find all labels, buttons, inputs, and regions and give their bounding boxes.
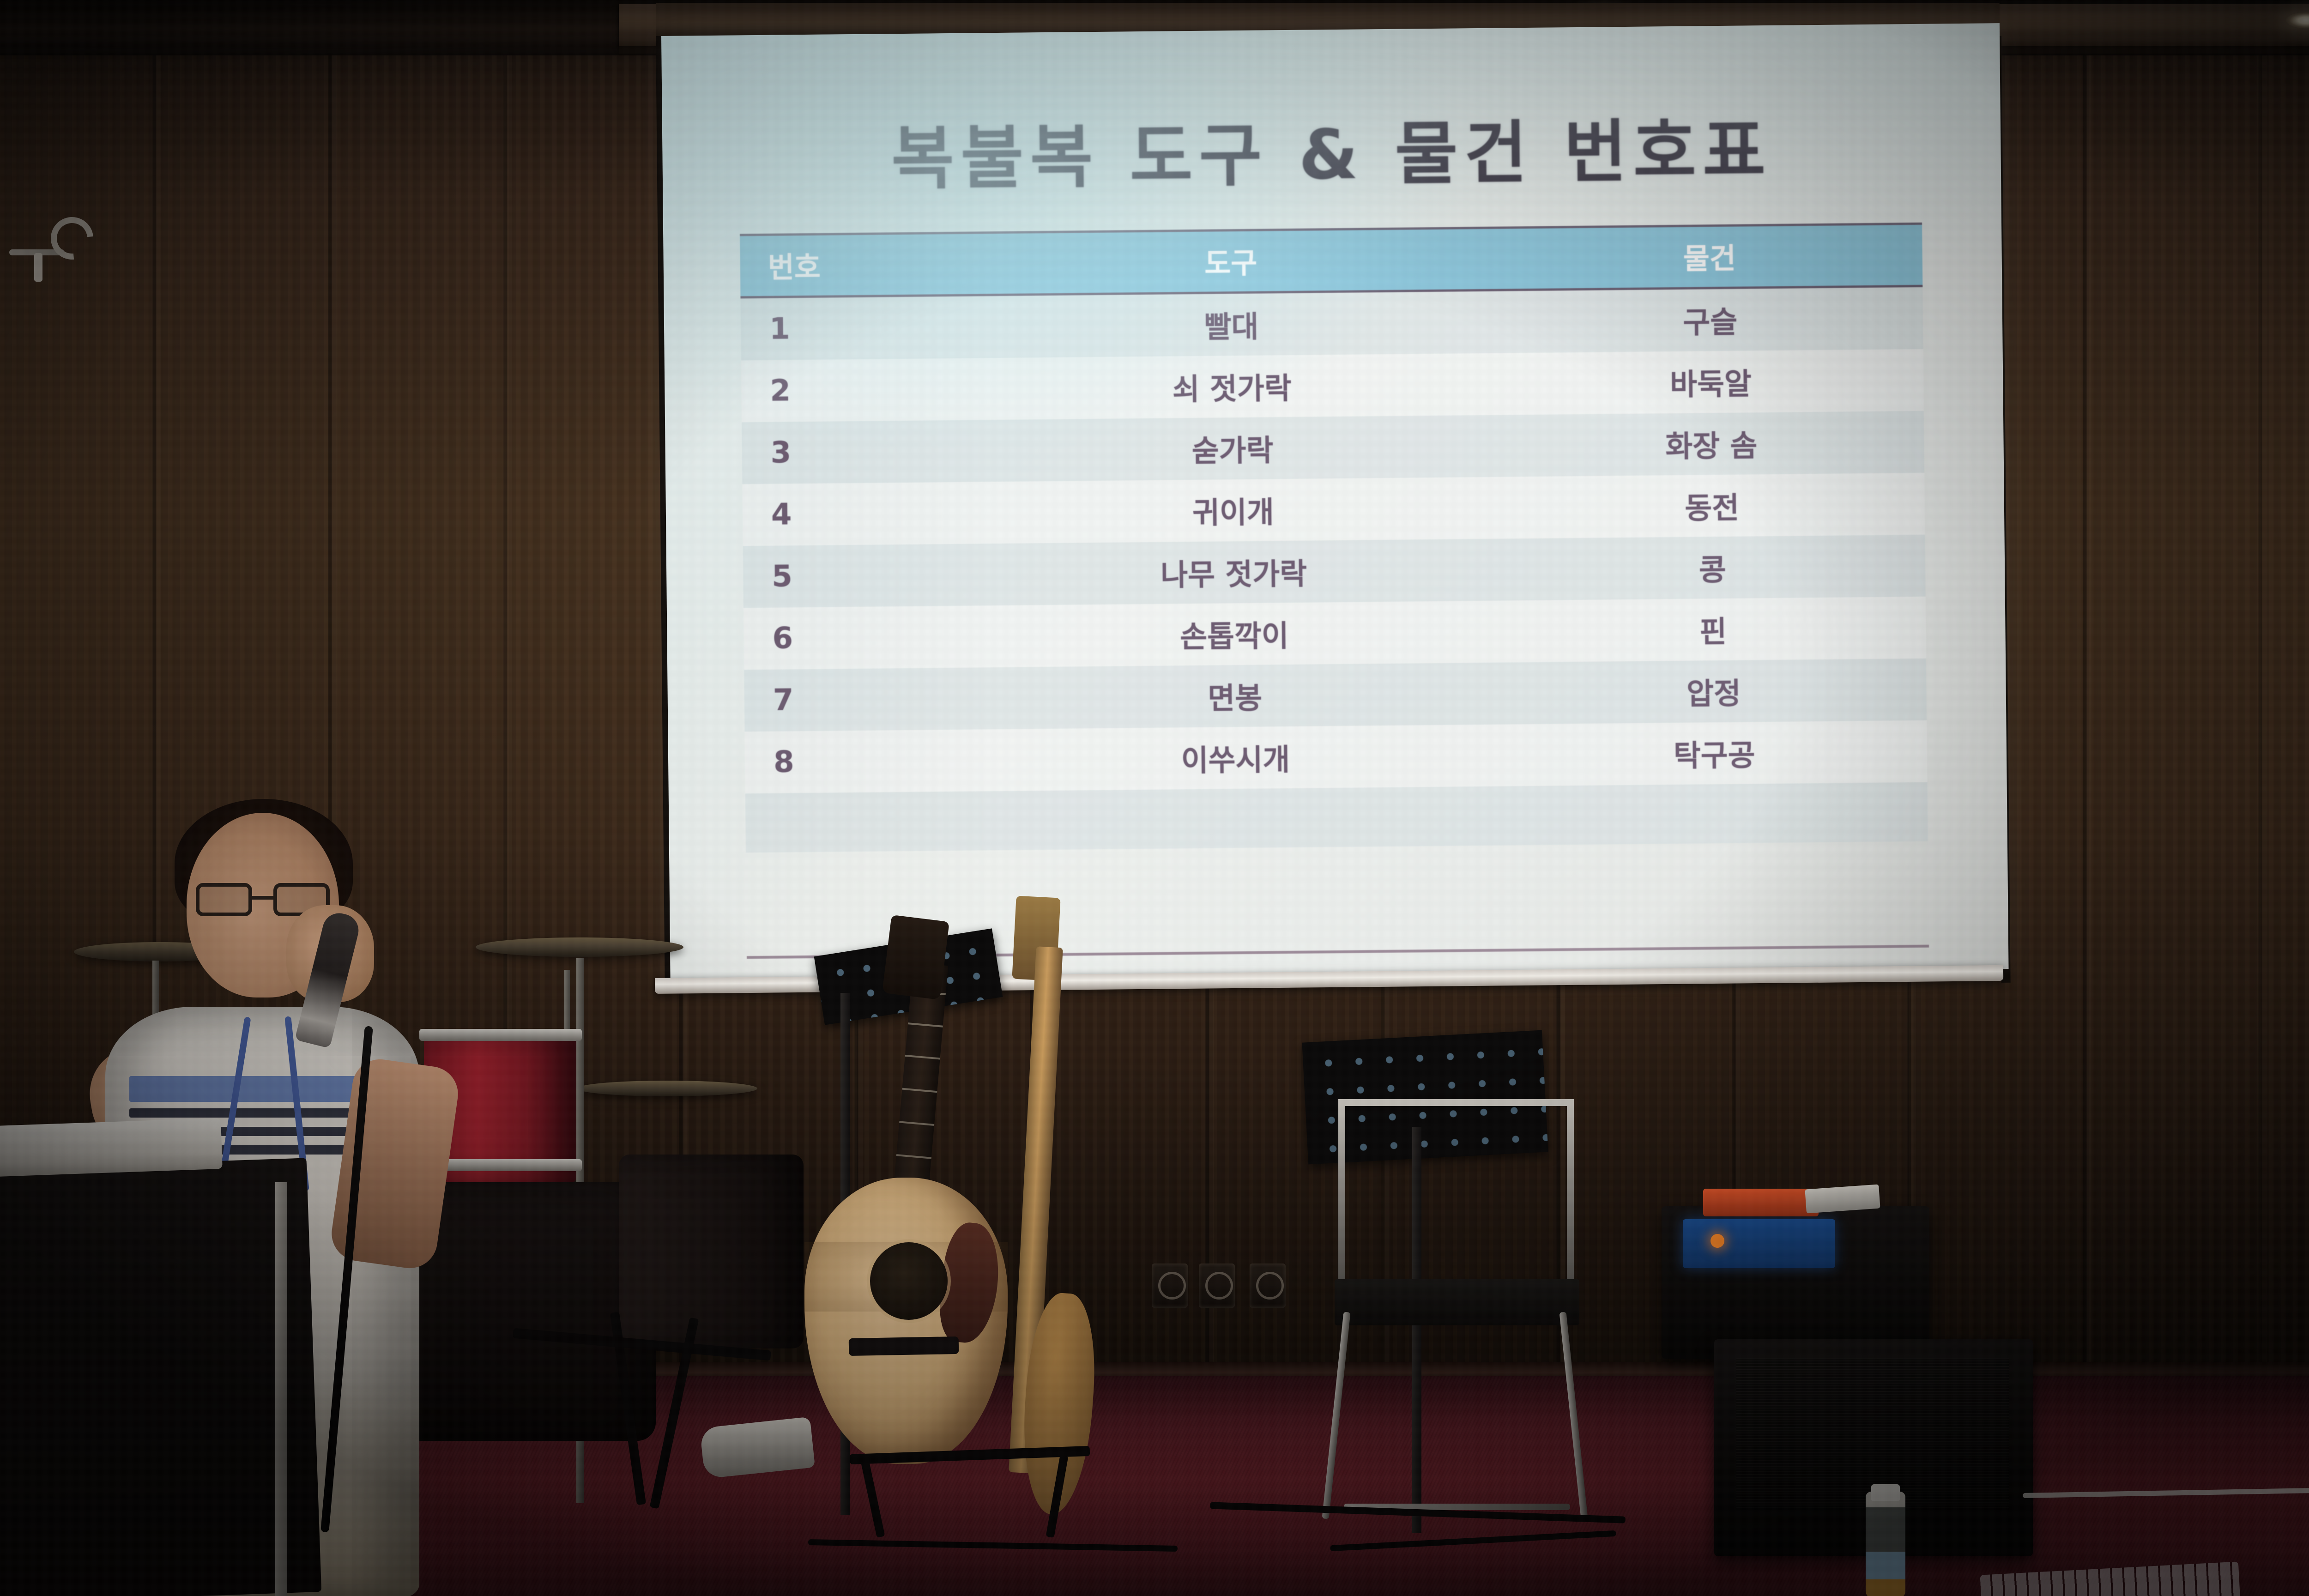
- cell-empty: [745, 792, 971, 853]
- table-row: 5 나무 젓가락 콩: [743, 535, 1926, 608]
- cell-number: 3: [742, 420, 967, 484]
- table-row: 1 빨대 구슬: [740, 286, 1923, 360]
- table-row: 7 면봉 압정: [744, 659, 1927, 732]
- table-row: 8 이쑤시개 탁구공: [744, 720, 1927, 794]
- cell-item: 탁구공: [1501, 720, 1928, 786]
- power-led-indicator: [1711, 1234, 1724, 1248]
- photo-scene: 복불복 도구 & 물건 번호표 번호 도구 물건 1 빨대 구슬: [0, 0, 2309, 1596]
- cell-item: 콩: [1499, 535, 1926, 601]
- cell-number: 8: [744, 730, 970, 794]
- guitar-fret: [905, 1055, 940, 1060]
- cell-item: 핀: [1500, 597, 1926, 663]
- cell-number: 6: [743, 606, 969, 670]
- slide-table: 번호 도구 물건 1 빨대 구슬 2 쇠 젓가락 바둑알: [740, 223, 1928, 853]
- cymbal: [577, 1081, 757, 1096]
- water-bottle: [1866, 1492, 1905, 1596]
- cell-tool: 이쑤시개: [969, 725, 1502, 792]
- column-header-item: 물건: [1496, 224, 1922, 290]
- cell-item: 구슬: [1497, 286, 1923, 353]
- cell-tool: 빨대: [965, 290, 1498, 358]
- guitar-fret: [896, 1154, 931, 1159]
- guitar-fret: [908, 1022, 943, 1028]
- fx-rack-unit: [1683, 1219, 1835, 1268]
- table-body: 1 빨대 구슬 2 쇠 젓가락 바둑알 3 숟가락 화장 솜: [740, 286, 1928, 852]
- orange-case: [1703, 1189, 1819, 1216]
- guitar-headstock: [882, 915, 949, 1000]
- cell-item: 동전: [1499, 473, 1925, 539]
- cell-item: 바둑알: [1498, 349, 1924, 415]
- presentation-slide: 복불복 도구 & 물건 번호표 번호 도구 물건 1 빨대 구슬: [661, 23, 2009, 982]
- cell-item: 압정: [1500, 659, 1927, 725]
- slide-title: 복불복 도구 & 물건 번호표: [662, 92, 2001, 205]
- lens-left: [196, 883, 252, 916]
- table-row: 4 귀이개 동전: [742, 473, 1925, 546]
- glasses-bridge: [252, 896, 273, 900]
- table-row: 3 숟가락 화장 솜: [742, 411, 1924, 484]
- guitar-soundhole: [870, 1242, 948, 1320]
- table-row: 6 손톱깍이 핀: [743, 597, 1926, 670]
- cell-number: 7: [744, 668, 969, 732]
- cell-item: 화장 솜: [1498, 411, 1924, 477]
- cell-number: 4: [742, 482, 967, 546]
- podium-post: [275, 1182, 287, 1596]
- projection-screen: 복불복 도구 & 물건 번호표 번호 도구 물건 1 빨대 구슬: [661, 23, 2009, 982]
- podium-top: [0, 1118, 223, 1177]
- cell-tool: 쇠 젓가락: [966, 353, 1498, 420]
- cell-tool: 귀이개: [967, 477, 1499, 544]
- guitar-fret: [902, 1088, 937, 1093]
- podium-body: [0, 1158, 321, 1596]
- cell-tool: 나무 젓가락: [967, 539, 1500, 606]
- guitar-bridge: [849, 1336, 959, 1356]
- cell-tool: 숟가락: [966, 415, 1499, 482]
- cell-tool: 면봉: [969, 663, 1501, 730]
- wall-hook-clip: [34, 253, 42, 282]
- wall-outlet: [1250, 1263, 1286, 1308]
- table-empty-row: [745, 782, 1928, 853]
- white-case: [1805, 1184, 1880, 1213]
- bottle-cap: [1871, 1484, 1900, 1501]
- column-header-tool: 도구: [965, 228, 1497, 295]
- cell-number: 5: [743, 544, 968, 608]
- wall-outlet: [1199, 1263, 1235, 1308]
- table-row: 2 쇠 젓가락 바둑알: [741, 349, 1924, 423]
- wall-outlet: [1152, 1263, 1188, 1308]
- chair-seat: [1335, 1279, 1579, 1325]
- column-header-number: 번호: [740, 233, 965, 297]
- cell-number: 1: [740, 295, 966, 360]
- cell-tool: 손톱깍이: [968, 601, 1500, 668]
- cell-empty: [970, 786, 1502, 851]
- drum-rim: [419, 1029, 582, 1041]
- cell-empty: [1502, 782, 1928, 846]
- cymbal: [476, 937, 683, 957]
- guitar-fret: [899, 1121, 934, 1126]
- cell-number: 2: [741, 358, 967, 423]
- table-header-row: 번호 도구 물건: [740, 224, 1922, 297]
- floor-tom: [619, 1155, 804, 1348]
